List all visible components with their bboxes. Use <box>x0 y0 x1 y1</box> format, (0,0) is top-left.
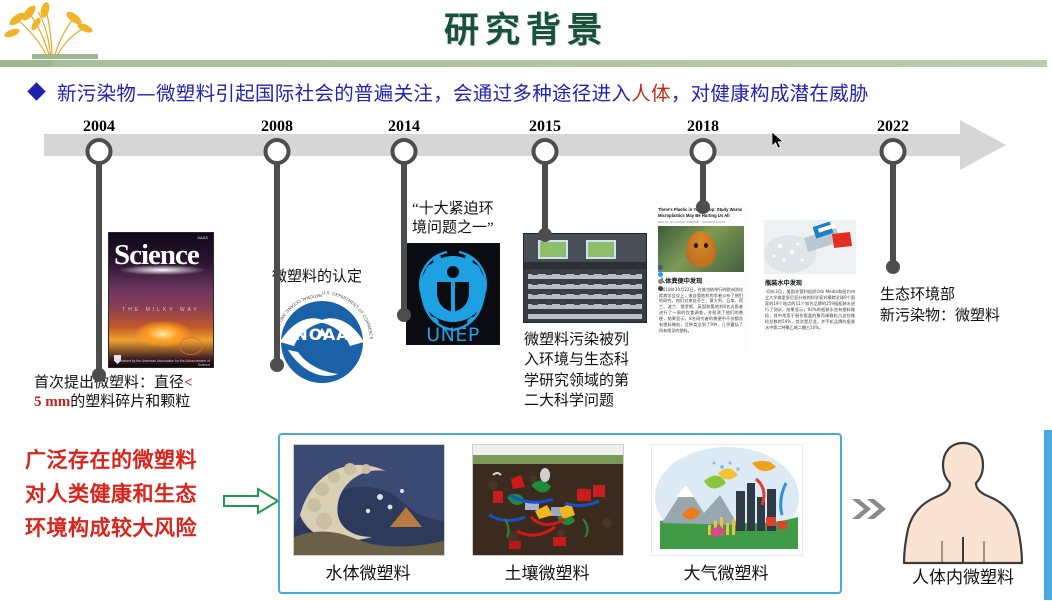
timeline-stem-2015 <box>542 157 548 235</box>
news-subheadline: 人体粪便中发现 <box>655 272 747 287</box>
bottle-body: ·同年3月，美国非营利组织Orb Media和纽约州立大学弗里多尼亚分校的科学家… <box>762 289 858 330</box>
noaa-logo-icon[interactable]: NOAA U.S. DEPARTMENT OF COMMERCE NATIONA… <box>268 288 376 396</box>
news-clipping-poop[interactable]: There's Plastic in Your Poop: Study Warn… <box>655 205 747 357</box>
bullet-text-suffix: ，对健康构成潜在威胁 <box>671 82 869 105</box>
science-magazine-cover[interactable]: Science AAAS THE MILKY WAY Published by … <box>108 232 214 368</box>
timeline-stem-2014 <box>401 157 407 315</box>
svg-text:NOAA: NOAA <box>294 325 349 344</box>
link-icon <box>658 286 663 291</box>
label-2014: “十大紧迫环 境问题之一” <box>412 200 530 238</box>
bottle-photo <box>764 220 856 274</box>
timeline-enddot-2004 <box>92 368 106 382</box>
caption-2015: 微塑料污染被列 入环境与生态科 学研究领域的第 二大科学问题 <box>524 330 646 411</box>
caption-2022: 生态环境部 新污染物：微塑料 <box>880 285 1050 327</box>
news-photo <box>658 226 744 272</box>
science-wordmark: Science <box>114 239 199 272</box>
unep-logo[interactable]: UNEP <box>406 243 500 345</box>
header-divider <box>52 60 1047 67</box>
timeline-node-2018[interactable] <box>690 138 717 165</box>
thumbnail-water[interactable] <box>293 444 445 556</box>
timeline-arrowhead-icon <box>960 120 1006 170</box>
timeline-stem-2008 <box>274 157 280 365</box>
conference-photo[interactable] <box>523 233 647 323</box>
mail-icon <box>658 279 663 284</box>
label-2008: 微塑料的认定 <box>272 268 392 287</box>
diamond-bullet-icon <box>27 82 45 100</box>
caption-2004-line1: 首次提出微塑料：直径 <box>34 375 184 391</box>
timeline-node-2022[interactable] <box>880 138 907 165</box>
bullet-text-prefix: 新污染物—微塑料引起国际社会的普遍关注，会通过多种途径进入 <box>57 82 631 105</box>
page-title: 研究背景 <box>0 2 1052 53</box>
thumbnail-soil[interactable] <box>472 444 624 556</box>
timeline-node-2008[interactable] <box>264 138 291 165</box>
person-label: 人体内微塑料 <box>888 563 1038 588</box>
slide-canvas: 研究背景 新污染物—微塑料引起国际社会的普遍关注，会通过多种途径进入人体，对健康… <box>0 0 1052 601</box>
conclusion-red-text: 广泛存在的微塑料 对人类健康和生态 环境构成较大风险 <box>25 443 255 545</box>
timeline-enddot-2018 <box>696 200 710 214</box>
timeline-year-2022: 2022 <box>877 118 909 136</box>
bullet-text: 新污染物—微塑料引起国际社会的普遍关注，会通过多种途径进入人体，对健康构成潜在威… <box>57 77 869 106</box>
bullet-text-highlight: 人体 <box>631 82 671 105</box>
caption-2004-size: 5 mm <box>34 394 70 410</box>
timeline-node-2015[interactable] <box>532 138 559 165</box>
timeline-node-2014[interactable] <box>391 138 418 165</box>
thumbnail-water-label: 水体微塑料 <box>283 559 453 584</box>
news-clipping-bottled-water[interactable]: 瓶装水中发现 ·同年3月，美国非营利组织Orb Media和纽约州立大学弗里多尼… <box>762 218 858 358</box>
bottle-subheadline: 瓶装水中发现 <box>762 274 858 289</box>
mouse-cursor-icon <box>772 132 784 150</box>
timeline-year-2014: 2014 <box>388 118 420 136</box>
timeline-year-2004: 2004 <box>83 118 115 136</box>
timeline-enddot-2015 <box>538 228 552 242</box>
caption-2004-line2: 的塑料碎片和颗粒 <box>70 394 190 410</box>
social-share-rail[interactable] <box>658 265 663 293</box>
aaas-label: AAAS <box>197 235 208 240</box>
timeline-enddot-2022 <box>886 260 900 274</box>
caption-2004: 首次提出微塑料：直径< 5 mm的塑料碎片和颗粒 <box>34 374 274 412</box>
green-arrow-icon <box>222 487 280 515</box>
galaxy-ring <box>179 337 203 355</box>
timeline-stem-2022 <box>890 157 896 267</box>
poop-emoji-icon <box>686 231 716 267</box>
right-accent-bar <box>1044 430 1052 600</box>
timeline-stem-2004 <box>96 157 102 375</box>
double-chevron-right-icon <box>852 498 888 520</box>
timeline-bar <box>44 134 974 156</box>
human-body-silhouette-icon <box>898 437 1028 565</box>
twitter-icon <box>658 272 663 277</box>
timeline-year-2008: 2008 <box>261 118 293 136</box>
timeline-node-2004[interactable] <box>86 138 113 165</box>
timeline-year-2018: 2018 <box>687 118 719 136</box>
bullet-row: 新污染物—微塑料引起国际社会的普遍关注，会通过多种途径进入人体，对健康构成潜在威… <box>30 76 1050 106</box>
thumbnail-soil-label: 土壤微塑料 <box>462 559 632 584</box>
milky-way-caption: THE MILKY WAY <box>109 307 213 313</box>
facebook-icon <box>658 265 663 270</box>
thumbnail-atmosphere-label: 大气微塑料 <box>641 559 811 584</box>
thumbnail-atmosphere[interactable] <box>651 444 803 556</box>
timeline-year-2015: 2015 <box>529 118 561 136</box>
magazine-footer: Published by the American Association fo… <box>112 359 210 365</box>
unep-wordmark: UNEP <box>426 324 480 344</box>
timeline-enddot-2008 <box>270 358 284 372</box>
caption-2004-lt: < <box>184 375 193 391</box>
news-body: ·2018年10月22日，在维也纳举行的欧洲消化疾病学会议上，来自奥地利的学者公… <box>655 287 747 334</box>
timeline-enddot-2014 <box>397 308 411 322</box>
